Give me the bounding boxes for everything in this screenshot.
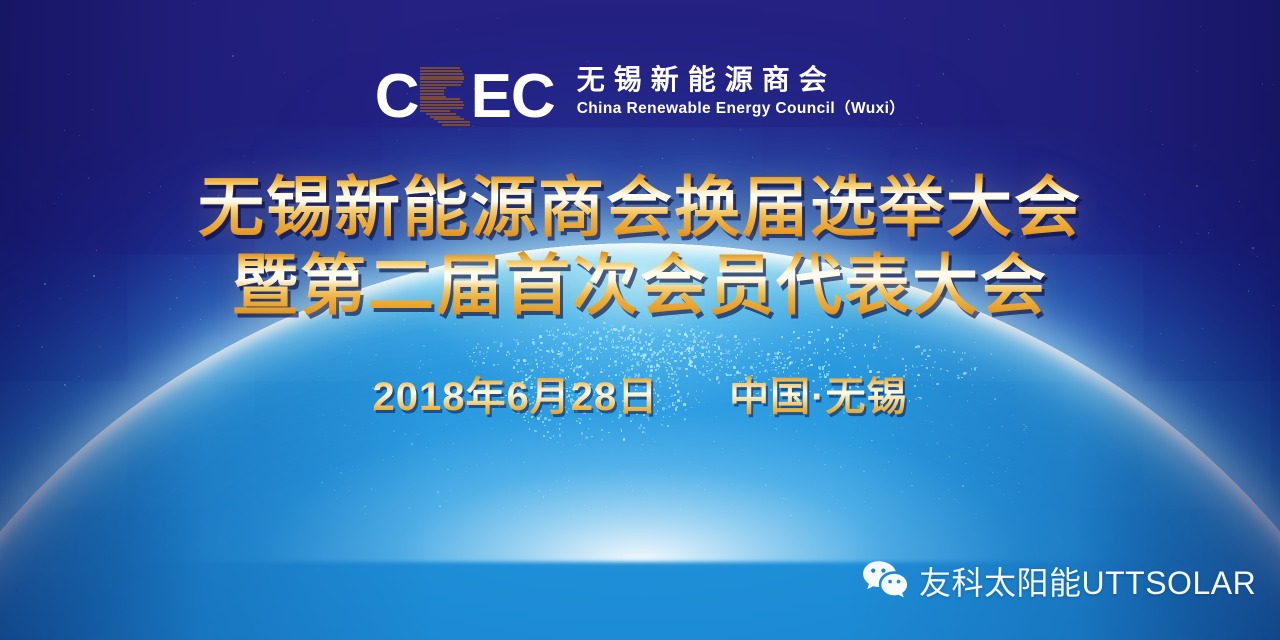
event-title-line-2: 暨第二届首次会员代表大会 bbox=[0, 246, 1280, 324]
event-title-line-1: 无锡新能源商会换届选举大会 bbox=[0, 168, 1280, 246]
event-date-location: 2018年6月28日 中国·无锡 bbox=[0, 372, 1280, 422]
crec-letters-ec: EC bbox=[471, 66, 555, 128]
organization-name-cn: 无锡新能源商会 bbox=[577, 64, 905, 96]
wechat-icon bbox=[862, 560, 908, 605]
crec-logotype: C EC bbox=[375, 62, 555, 128]
wechat-watermark: 友科太阳能UTTSOLAR bbox=[862, 560, 1256, 605]
event-location: 中国·无锡 bbox=[729, 375, 907, 419]
brand-header: C EC 无锡新能源商会 China Renewable Energy Coun… bbox=[0, 62, 1280, 128]
crec-letter-c1: C bbox=[375, 66, 419, 128]
conference-banner: C EC 无锡新能源商会 China Renewable Energy Coun… bbox=[0, 0, 1280, 640]
crec-letter-r-striped bbox=[420, 67, 470, 127]
wechat-account-name: 友科太阳能UTTSOLAR bbox=[919, 565, 1256, 601]
event-date: 2018年6月28日 bbox=[373, 375, 659, 419]
organization-name-block: 无锡新能源商会 China Renewable Energy Council（W… bbox=[577, 62, 905, 119]
event-title: 无锡新能源商会换届选举大会 暨第二届首次会员代表大会 bbox=[0, 168, 1280, 324]
organization-name-en: China Renewable Energy Council（Wuxi） bbox=[577, 99, 905, 119]
